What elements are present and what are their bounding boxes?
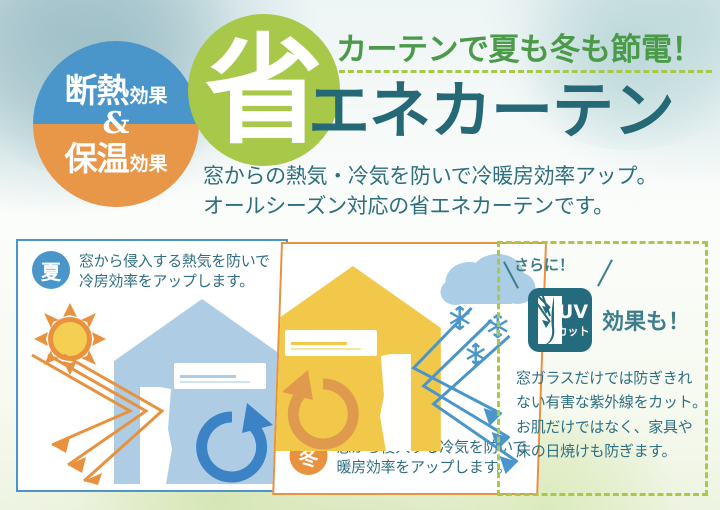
summer-description: 窓から侵入する熱気を防いで 冷房効率をアップします。 bbox=[79, 251, 270, 292]
badge-top-row: 断熱 効果 bbox=[64, 74, 167, 107]
uv-description: 窓ガラスだけでは防ぎきれ ない有害な紫外線をカット。 お肌だけではなく、家具や … bbox=[516, 366, 707, 463]
uv-cut-icon: UV カット bbox=[528, 288, 592, 352]
uv-icon-graphic: UV カット bbox=[528, 288, 592, 352]
uv-sarani-label: さらに！ bbox=[514, 254, 574, 275]
uv-desc-line-2: ない有害な紫外線をカット。 bbox=[516, 390, 707, 414]
headline-kicker: カーテンで夏も冬も節電！ bbox=[336, 24, 702, 69]
uv-effect-label: 効果も！ bbox=[602, 304, 690, 336]
uv-panel: さらに！ UV カット 効 bbox=[497, 241, 708, 496]
lead-line-1: 窓からの熱気・冷気を防いで冷暖房効率アップ。 bbox=[203, 161, 657, 191]
svg-text:UV: UV bbox=[558, 301, 588, 323]
lead-line-2: オールシーズン対応の省エネカーテンです。 bbox=[203, 191, 657, 221]
summer-panel: 夏 窓から侵入する熱気を防いで 冷房効率をアップします。 bbox=[16, 239, 288, 492]
uv-desc-line-4: 床の日焼けも防ぎます。 bbox=[516, 439, 707, 463]
summer-text-line-1: 窓から侵入する熱気を防いで bbox=[79, 251, 270, 271]
badge-dannetsu-label: 断熱 bbox=[64, 74, 128, 107]
lead-paragraph: 窓からの熱気・冷気を防いで冷暖房効率アップ。 オールシーズン対応の省エネカーテン… bbox=[203, 161, 657, 222]
uv-desc-line-3: お肌だけではなく、家具や bbox=[516, 415, 707, 439]
summer-header: 夏 窓から侵入する熱気を防いで 冷房効率をアップします。 bbox=[32, 251, 270, 292]
badge-hoon-suffix: 効果 bbox=[129, 155, 167, 174]
headline-divider bbox=[330, 70, 712, 73]
svg-text:カット: カット bbox=[557, 325, 590, 338]
summer-badge: 夏 bbox=[32, 251, 70, 289]
badge-hoon-label: 保温 bbox=[64, 142, 128, 175]
uv-desc-line-1: 窓ガラスだけでは防ぎきれ bbox=[516, 366, 707, 390]
page-title: エネカーテン bbox=[308, 78, 674, 143]
uv-icon-row: UV カット 効果も！ bbox=[528, 288, 690, 352]
insulation-effect-badge: 断熱 効果 & 保温 効果 bbox=[33, 41, 199, 207]
badge-bottom-row: 保温 効果 bbox=[64, 142, 167, 175]
sho-character: 省 bbox=[205, 32, 323, 150]
panel-row: 夏 窓から侵入する熱気を防いで 冷房効率をアップします。 bbox=[16, 239, 704, 493]
poster-canvas: 断熱 効果 & 保温 効果 省 カーテンで夏も冬も節電！ エネカーテン 窓からの… bbox=[0, 0, 720, 510]
summer-heat-arrows bbox=[26, 353, 176, 485]
badge-ampersand: & bbox=[102, 109, 129, 139]
summer-text-line-2: 冷房効率をアップします。 bbox=[79, 271, 270, 291]
badge-text-group: 断熱 効果 & 保温 効果 bbox=[33, 41, 199, 207]
sarani-slash-right bbox=[597, 259, 613, 286]
badge-dannetsu-suffix: 効果 bbox=[129, 87, 167, 106]
